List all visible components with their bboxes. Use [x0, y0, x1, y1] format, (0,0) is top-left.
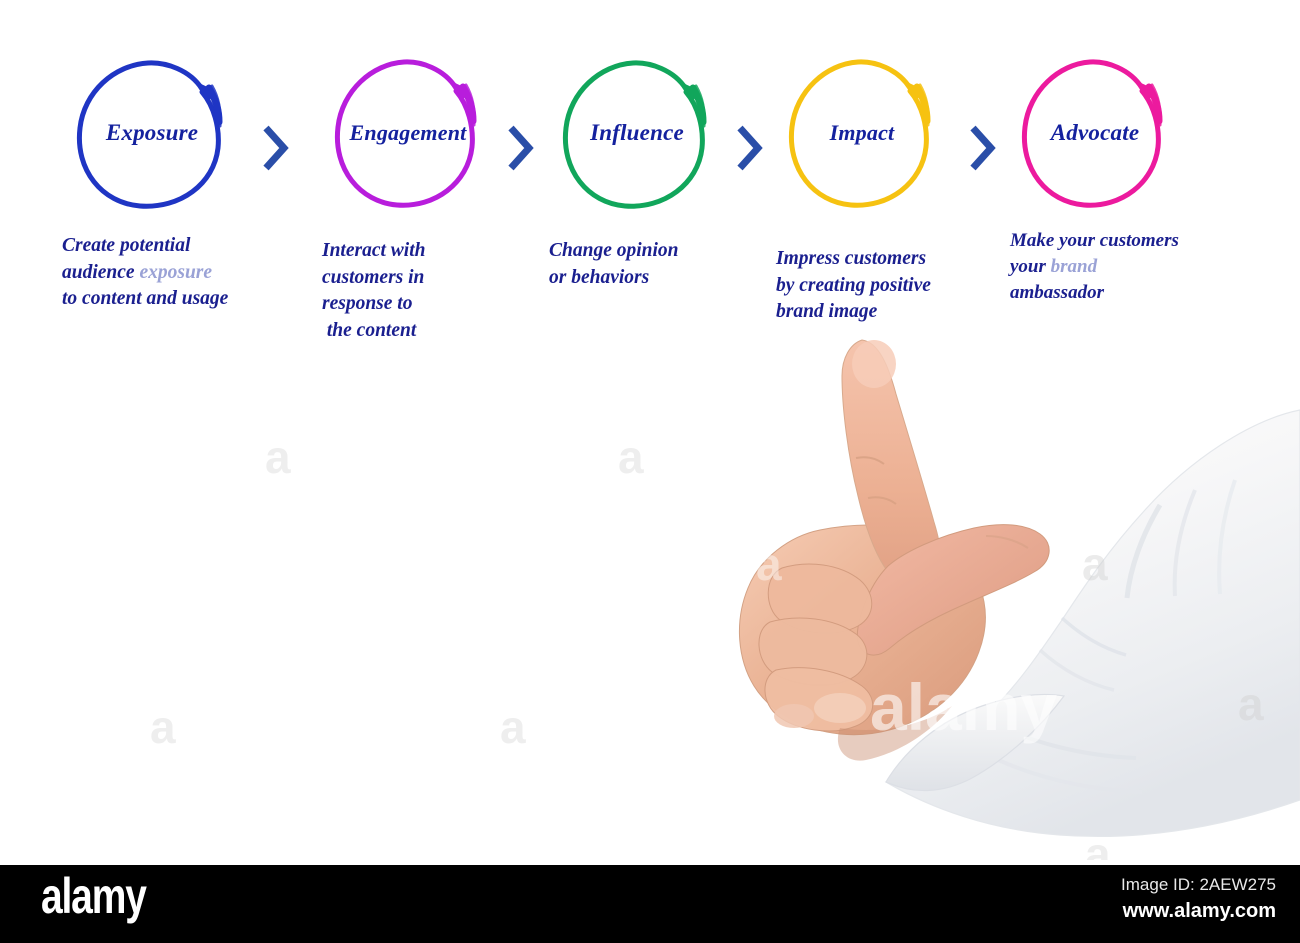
stage-label: Advocate — [1010, 48, 1180, 218]
desc-highlight: brand — [1051, 256, 1097, 277]
hand-pointing-photo: a a a a alamy — [690, 330, 1300, 860]
stage-description: Make your customers your brand ambassado… — [1010, 228, 1250, 306]
desc-line: customers in — [322, 267, 424, 288]
chevron-right-icon — [258, 120, 292, 176]
hand-illustration: a a a a alamy — [690, 330, 1300, 860]
stage-circle-engagement: Engagement — [322, 48, 494, 218]
desc-line: by creating positive — [776, 275, 931, 296]
stage-description: Interact with customers in response to t… — [322, 238, 502, 345]
stage-circle-advocate: Advocate — [1010, 48, 1180, 218]
chevron-right-icon — [503, 120, 537, 176]
stage-exposure[interactable]: Exposure Create potential audience expos… — [62, 48, 292, 348]
desc-line: Change opinion — [549, 240, 679, 261]
desc-line: or behaviors — [549, 267, 649, 288]
stage-label: Exposure — [62, 48, 242, 218]
watermark-text: alamy — [870, 670, 1057, 744]
alamy-logo: alamy — [41, 871, 146, 921]
watermark-letter: a — [618, 430, 644, 484]
watermark-letter: a — [756, 538, 782, 590]
stage-description: Impress customers by creating positive b… — [776, 246, 991, 326]
stage-circle-exposure: Exposure — [62, 48, 242, 218]
stage-engagement[interactable]: Engagement Interact with customers in re… — [322, 48, 552, 348]
diagram-canvas: Exposure Create potential audience expos… — [0, 0, 1300, 943]
stage-label: Influence — [549, 48, 725, 218]
stage-description: Change opinion or behaviors — [549, 238, 749, 291]
desc-line: to content and usage — [62, 288, 228, 309]
desc-line: Impress customers — [776, 248, 926, 269]
watermark-letter: a — [500, 700, 526, 754]
watermark-letter: a — [265, 430, 291, 484]
stage-advocate[interactable]: Advocate Make your customers your brand … — [1010, 48, 1240, 348]
watermark-letter: a — [1082, 538, 1108, 590]
stage-description: Create potential audience exposure to co… — [62, 233, 312, 313]
watermark-letter: a — [1238, 678, 1264, 730]
chevron-right-icon — [732, 120, 766, 176]
stage-circle-influence: Influence — [549, 48, 725, 218]
stage-impact[interactable]: Impact Impress customers by creating pos… — [776, 48, 1006, 348]
desc-line: your — [1010, 256, 1051, 277]
desc-line: the content — [327, 320, 416, 341]
desc-line: brand image — [776, 301, 877, 322]
desc-line: Interact with — [322, 240, 425, 261]
image-id-text: Image ID: 2AEW275 — [1121, 875, 1276, 895]
alamy-watermark-bar: alamy Image ID: 2AEW275 www.alamy.com — [0, 865, 1300, 943]
desc-line: ambassador — [1010, 282, 1104, 303]
alamy-url-text[interactable]: www.alamy.com — [1123, 900, 1276, 923]
watermark-letter: a — [1085, 828, 1111, 860]
stage-label: Impact — [776, 48, 948, 218]
stage-influence[interactable]: Influence Change opinion or behaviors — [549, 48, 779, 348]
desc-line: Make your customers — [1010, 230, 1179, 251]
chevron-right-icon — [965, 120, 999, 176]
watermark-letter: a — [150, 700, 176, 754]
desc-line: audience — [62, 262, 139, 283]
desc-line: response to — [322, 293, 412, 314]
desc-highlight: exposure — [139, 262, 212, 283]
stage-label: Engagement — [322, 48, 494, 218]
desc-line: Create potential — [62, 235, 190, 256]
stage-circle-impact: Impact — [776, 48, 948, 218]
